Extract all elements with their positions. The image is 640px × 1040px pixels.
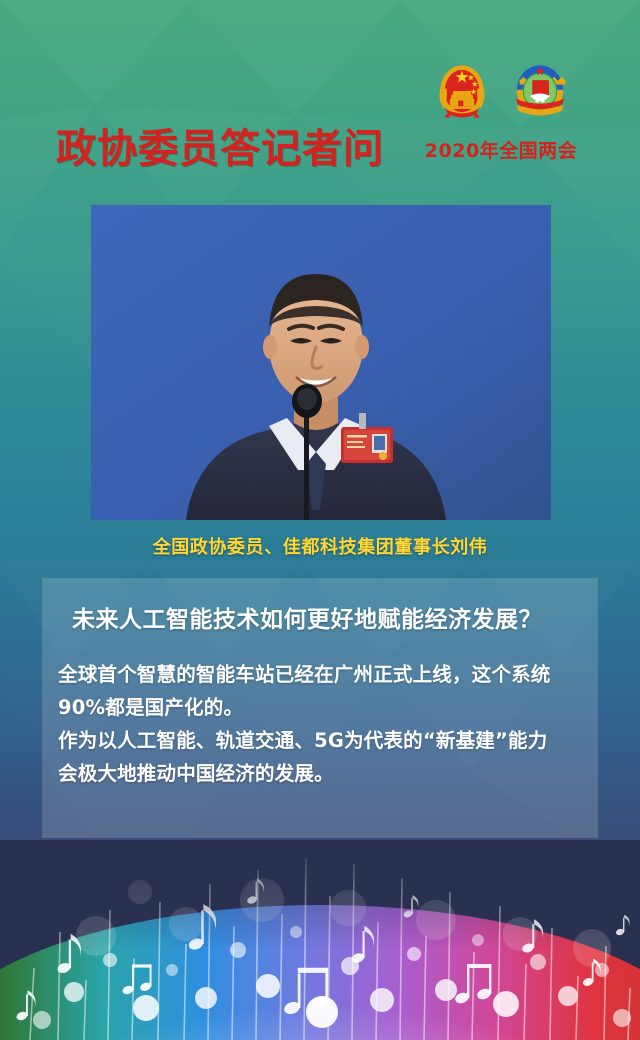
answer-text: 全球首个智慧的智能车站已经在广州正式上线，这个系统 90%都是国产化的。 作为以…	[58, 658, 582, 790]
event-label: 2020年全国两会	[418, 136, 584, 163]
poster-root: 政协委员答记者问	[0, 0, 640, 1040]
cppcc-emblem-icon	[508, 59, 572, 123]
music-notes-decoration	[0, 840, 640, 1040]
photo-caption: 全国政协委员、佳都科技集团董事长刘伟	[0, 533, 640, 559]
page-title: 政协委员答记者问	[56, 116, 384, 174]
answer-line: 会极大地推动中国经济的发展。	[58, 757, 582, 790]
content-panel: 未来人工智能技术如何更好地赋能经济发展？ 全球首个智慧的智能车站已经在广州正式上…	[42, 578, 598, 838]
question-text: 未来人工智能技术如何更好地赋能经济发展？	[72, 600, 582, 634]
national-emblem-prc-icon	[430, 59, 494, 123]
speaker-photo	[91, 205, 551, 520]
emblem-group	[418, 58, 584, 124]
speaker-photo-image	[91, 205, 551, 520]
answer-line: 全球首个智慧的智能车站已经在广州正式上线，这个系统	[58, 658, 582, 691]
answer-line: 作为以人工智能、轨道交通、5G为代表的“新基建”能力	[58, 724, 582, 757]
poster-header: 政协委员答记者问	[0, 0, 640, 200]
answer-line: 90%都是国产化的。	[58, 691, 582, 724]
